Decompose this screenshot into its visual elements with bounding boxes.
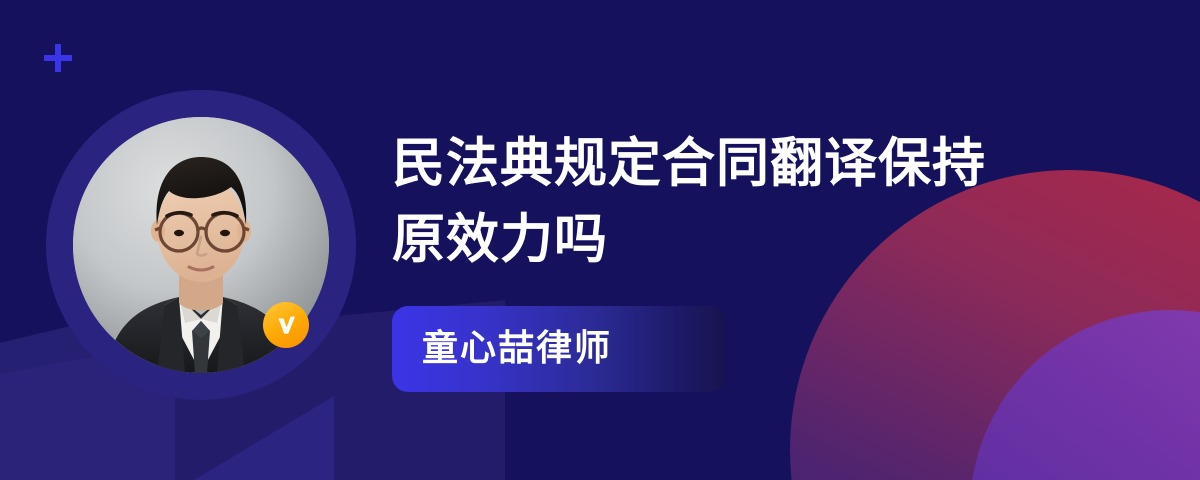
page-title: 民法典规定合同翻译保持原效力吗: [392, 126, 992, 278]
plus-icon: [44, 44, 72, 72]
lawyer-article-banner: 民法典规定合同翻译保持原效力吗 童心喆律师: [0, 0, 1200, 480]
verified-check-icon: [263, 302, 309, 348]
author-name-chip[interactable]: 童心喆律师: [392, 306, 725, 392]
avatar[interactable]: [46, 90, 356, 400]
banner-content: 民法典规定合同翻译保持原效力吗 童心喆律师: [392, 126, 1112, 392]
